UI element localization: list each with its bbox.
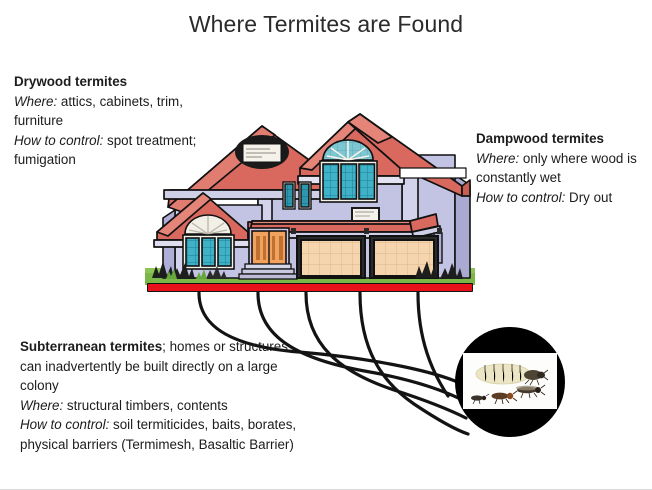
subterranean-where-line: Where: structural timbers, contents [20, 396, 300, 416]
subterranean-heading-line: Subterranean termites; homes or structur… [20, 337, 300, 396]
termite-photo [463, 353, 557, 409]
garage-lights [291, 228, 442, 234]
drywood-control-line: How to control: spot treatment; fumigati… [14, 131, 210, 170]
dampwood-heading: Dampwood termites [476, 129, 652, 149]
dampwood-control-label: How to control: [476, 190, 565, 205]
red-foundation-barrier [147, 283, 473, 292]
window-left-arched [183, 215, 234, 269]
front-steps [239, 264, 297, 279]
termite-colony-photo-inset [455, 327, 565, 437]
dampwood-control-text: Dry out [565, 190, 612, 205]
subterranean-where-text: structural timbers, contents [63, 398, 227, 413]
dampwood-control-line: How to control: Dry out [476, 188, 652, 208]
drywood-where-line: Where: attics, cabinets, trim, furniture [14, 92, 210, 131]
subterranean-termites-text-block: Subterranean termites; homes or structur… [20, 337, 300, 455]
drywood-heading: Drywood termites [14, 72, 210, 92]
subterranean-control-label: How to control: [20, 417, 109, 432]
house-structure [163, 155, 470, 278]
dampwood-where-label: Where: [476, 151, 519, 166]
subterranean-where-label: Where: [20, 398, 63, 413]
dampwood-termites-text-block: Dampwood termites Where: only where wood… [476, 129, 652, 207]
infographic-canvas: Where Termites are Found [0, 0, 652, 490]
front-door [249, 228, 289, 272]
subterranean-control-line: How to control: soil termiticides, baits… [20, 415, 300, 454]
drywood-where-label: Where: [14, 94, 57, 109]
drywood-control-label: How to control: [14, 133, 103, 148]
shrub-grass-tufts [166, 269, 207, 279]
wall-plaque-sign [351, 207, 380, 222]
drywood-termites-text-block: Drywood termites Where: attics, cabinets… [14, 72, 210, 170]
window-upper-left-pair [283, 182, 311, 209]
window-right-wing [434, 233, 442, 263]
garage-doors [297, 236, 438, 278]
shrubs [152, 261, 463, 279]
page-title: Where Termites are Found [0, 11, 652, 38]
roof-oval-vent [235, 135, 289, 169]
subterranean-heading: Subterranean termites [20, 339, 162, 354]
window-upper-center [320, 140, 377, 202]
dampwood-where-line: Where: only where wood is constantly wet [476, 149, 652, 188]
